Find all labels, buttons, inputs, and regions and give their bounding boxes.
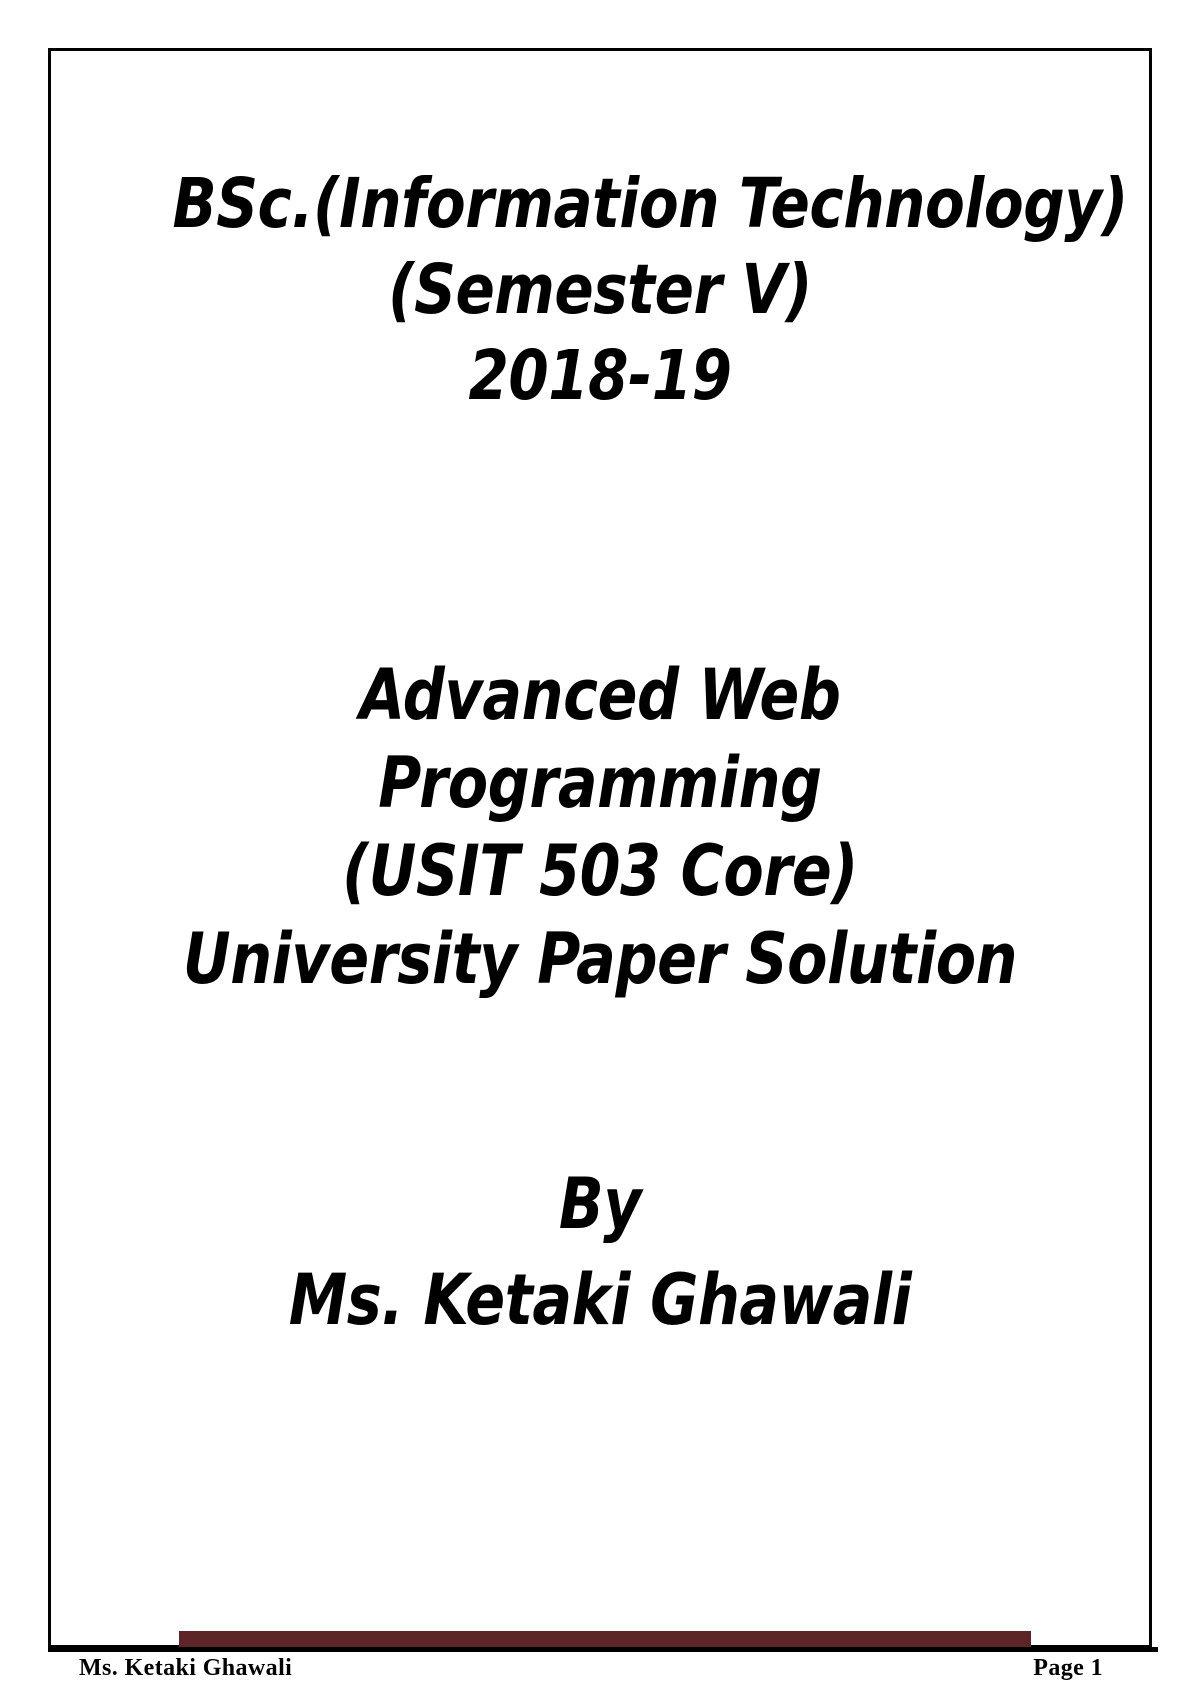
page-border-frame: BSc.(Information Technology) (Semester V… <box>48 48 1152 1648</box>
footer-accent-bar <box>179 1631 1031 1647</box>
subject-title-line-2: Programming <box>172 739 1027 827</box>
semester-line: (Semester V) <box>172 247 1027 333</box>
cover-degree-block: BSc.(Information Technology) (Semester V… <box>51 161 1149 419</box>
by-label: By <box>172 1156 1027 1252</box>
page-footer: Ms. Ketaki Ghawali Page 1 <box>51 1655 1155 1682</box>
footer-divider-line <box>48 1647 1158 1652</box>
footer-author-text: Ms. Ketaki Ghawali <box>79 1655 292 1682</box>
cover-author-block: By Ms. Ketaki Ghawali <box>51 1156 1149 1348</box>
degree-title-line: BSc.(Information Technology) <box>172 161 1027 247</box>
cover-subject-block: Advanced Web Programming (USIT 503 Core)… <box>51 651 1149 1003</box>
subject-title-line-1: Advanced Web <box>172 651 1027 739</box>
course-code-line: (USIT 503 Core) <box>172 827 1027 915</box>
academic-year-line: 2018-19 <box>172 333 1027 419</box>
document-type-line: University Paper Solution <box>172 915 1027 1003</box>
author-name: Ms. Ketaki Ghawali <box>172 1252 1027 1348</box>
footer-page-number: Page 1 <box>1033 1655 1103 1682</box>
